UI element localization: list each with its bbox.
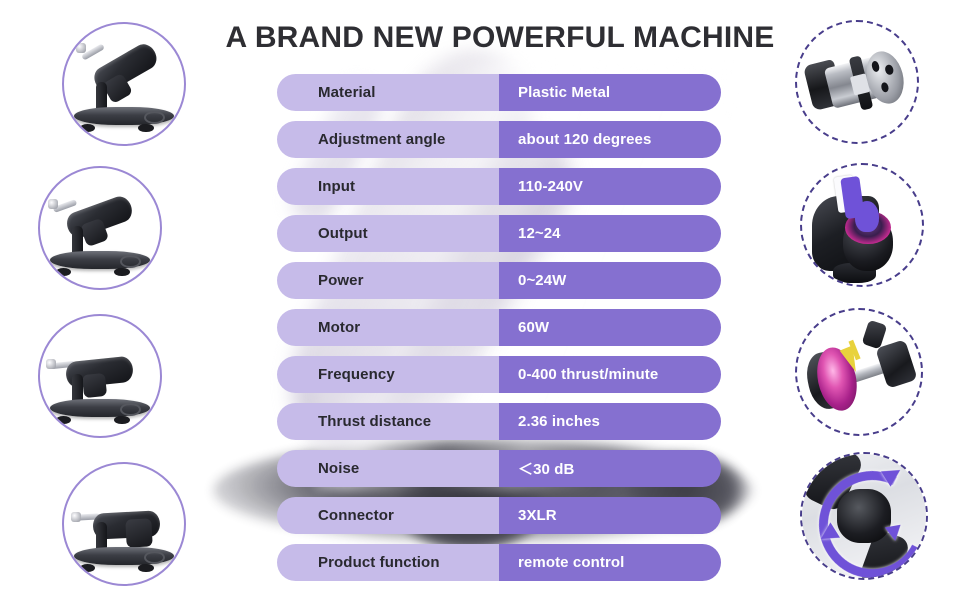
connector-pin: [879, 81, 889, 93]
machine-base-plate: [74, 547, 175, 565]
spec-value: 3XLR: [499, 497, 721, 534]
spec-value: remote control: [499, 544, 721, 581]
spec-value: 12~24: [499, 215, 721, 252]
machine-low-profile-photo: [62, 462, 186, 586]
pink-disc-shaft-photo: [795, 308, 923, 436]
spec-key: Connector: [277, 497, 499, 534]
shaft-tip: [48, 199, 58, 209]
spec-key: Motor: [277, 309, 499, 346]
table-row: Power 0~24W: [277, 262, 721, 299]
shaft-end-cap: [876, 340, 919, 390]
shaft-tip: [71, 512, 81, 522]
spec-value: about 120 degrees: [499, 121, 721, 158]
spec-table: Material Plastic Metal Adjustment angle …: [277, 74, 721, 591]
machine-grip: [82, 372, 107, 397]
machine-foot-left: [80, 124, 96, 132]
spec-value: 110-240V: [499, 168, 721, 205]
table-row: Motor 60W: [277, 309, 721, 346]
shaft-tip: [46, 359, 56, 369]
spec-key: Adjustment angle: [277, 121, 499, 158]
machine-foot-right: [114, 268, 130, 276]
shaft-tip: [76, 43, 86, 53]
machine-mid-tilt-photo: [38, 166, 162, 290]
machine-foot-right: [114, 416, 130, 424]
spec-key: Output: [277, 215, 499, 252]
spec-key: Power: [277, 262, 499, 299]
connector-pin: [884, 64, 894, 76]
rotation-arrowhead-icon: [885, 525, 903, 543]
table-row: Adjustment angle about 120 degrees: [277, 121, 721, 158]
page-title: A BRAND NEW POWERFUL MACHINE: [200, 22, 800, 54]
connector-pin: [870, 60, 880, 72]
spec-key: Frequency: [277, 356, 499, 393]
machine-base-plate: [50, 251, 151, 269]
rotation-knob-photo: [800, 452, 928, 580]
spec-value: Plastic Metal: [499, 74, 721, 111]
spec-key: Input: [277, 168, 499, 205]
xlr-connector-photo: [795, 20, 919, 144]
machine-base-plate: [50, 399, 151, 417]
machine-grip: [126, 519, 154, 548]
spec-key: Material: [277, 74, 499, 111]
spec-key: Product function: [277, 544, 499, 581]
machine-foot-right: [138, 564, 154, 572]
machine-foot-left: [56, 416, 72, 424]
machine-foot-left: [80, 564, 96, 572]
table-row: Input 110-240V: [277, 168, 721, 205]
infographic-canvas: A BRAND NEW POWERFUL MACHINE Material Pl…: [0, 0, 970, 600]
machine-foot-right: [138, 124, 154, 132]
spec-key: Thrust distance: [277, 403, 499, 440]
spec-value: 0~24W: [499, 262, 721, 299]
table-row: Connector 3XLR: [277, 497, 721, 534]
table-row: Material Plastic Metal: [277, 74, 721, 111]
purple-attachment-photo: [800, 163, 924, 287]
table-row: Noise ＜30 dB: [277, 450, 721, 487]
machine-foot-left: [56, 268, 72, 276]
spec-value: 60W: [499, 309, 721, 346]
machine-base-plate: [74, 107, 175, 125]
table-row: Product function remote control: [277, 544, 721, 581]
table-row: Thrust distance 2.36 inches: [277, 403, 721, 440]
machine-angled-up-photo: [62, 22, 186, 146]
spec-value: 0-400 thrust/minute: [499, 356, 721, 393]
spec-value: 2.36 inches: [499, 403, 721, 440]
table-row: Output 12~24: [277, 215, 721, 252]
table-row: Frequency 0-400 thrust/minute: [277, 356, 721, 393]
spec-value: ＜30 dB: [499, 450, 721, 487]
spec-key: Noise: [277, 450, 499, 487]
machine-horizontal-photo: [38, 314, 162, 438]
